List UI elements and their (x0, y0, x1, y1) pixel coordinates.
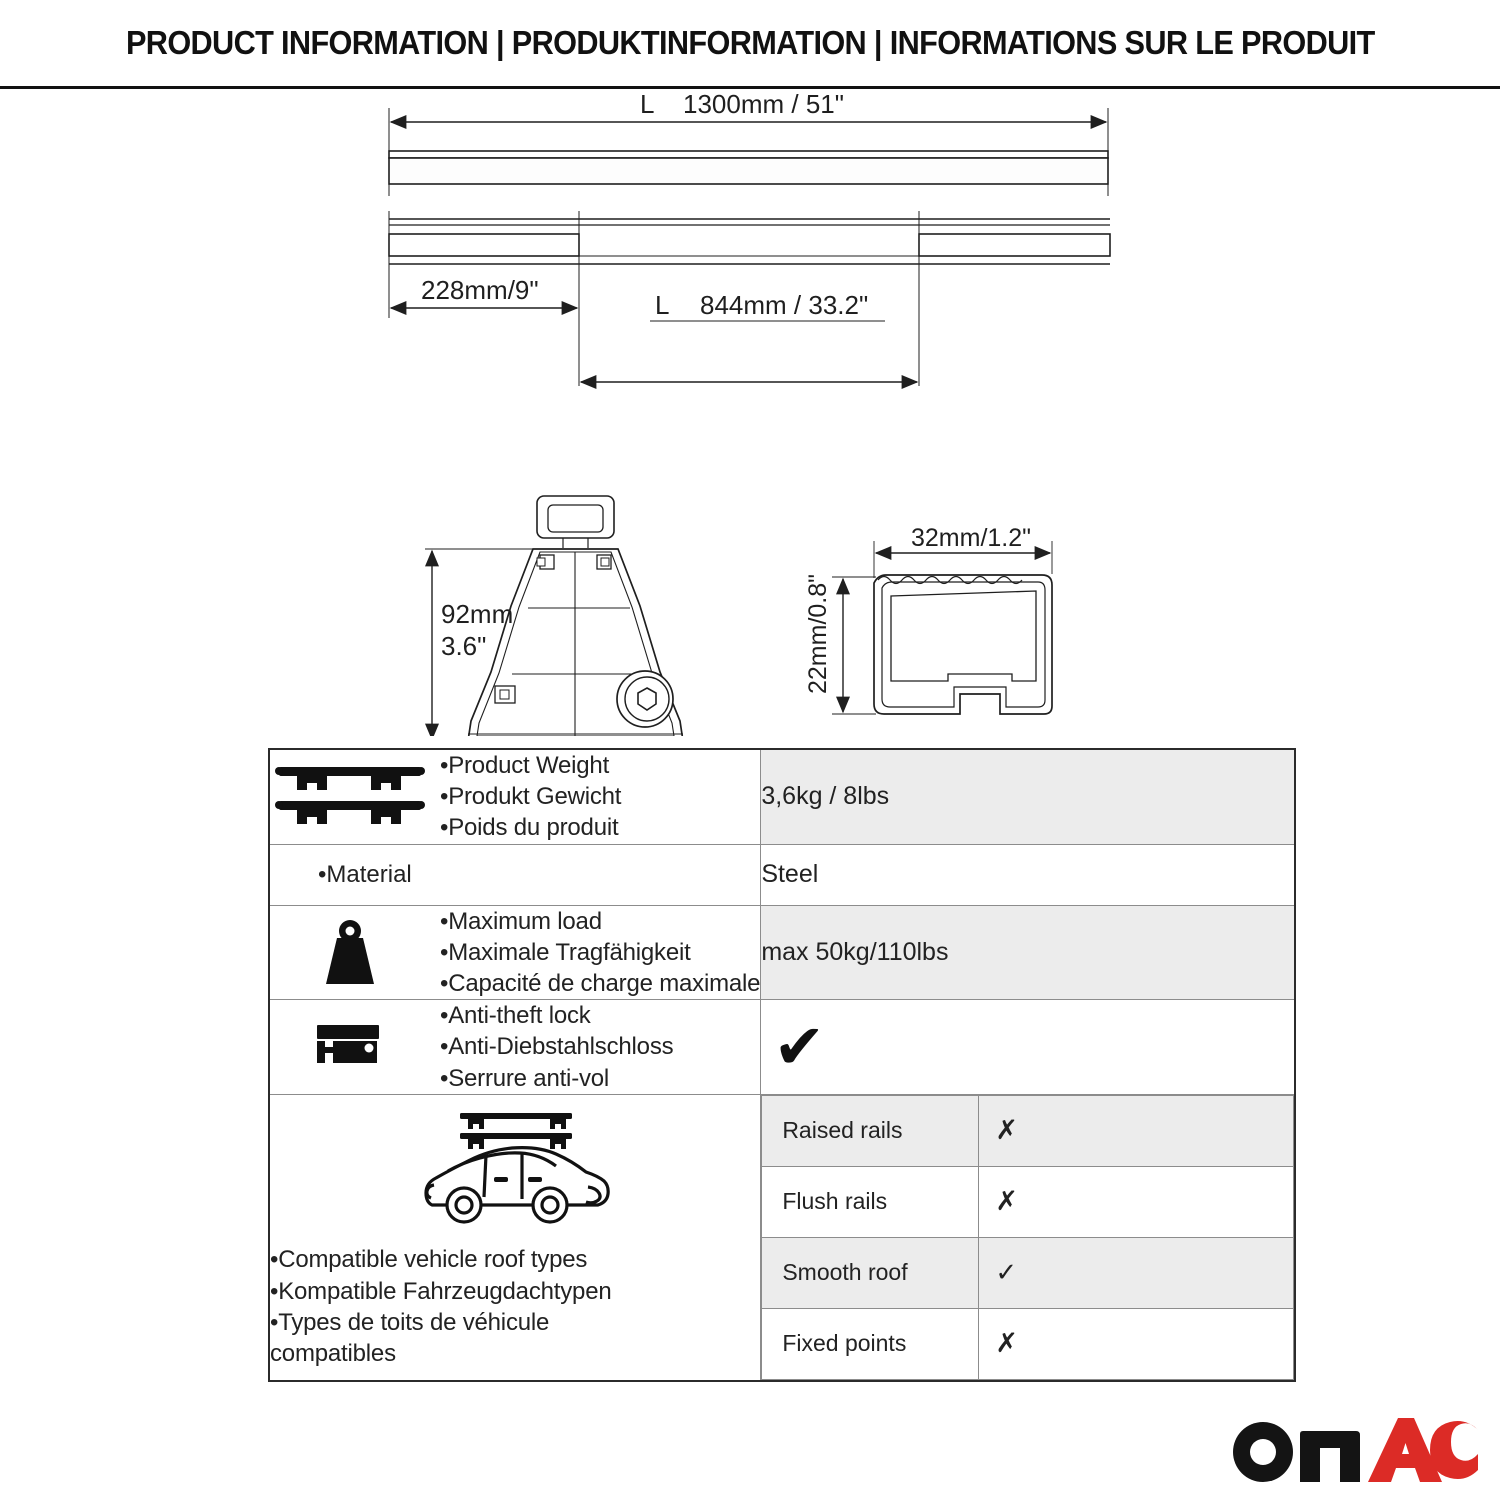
lock-icon (270, 1017, 430, 1077)
label-line-fr: •Poids du produit (440, 812, 621, 843)
roof-type-name: Raised rails (762, 1095, 979, 1166)
roof-type-row: Raised rails ✗ (762, 1095, 1294, 1166)
roof-type-row: Smooth roof ✓ (762, 1237, 1294, 1308)
anti-theft-value: ✔ (761, 1000, 1295, 1095)
table-row: •Anti-theft lock •Anti-Diebstahlschloss … (269, 1000, 1295, 1095)
table-row: •Material Steel (269, 844, 1295, 905)
omac-logo (1228, 1412, 1478, 1484)
label-line-fr-cont: compatibles (270, 1338, 612, 1369)
roof-type-name: Smooth roof (762, 1237, 979, 1308)
product-weight-value: 3,6kg / 8lbs (761, 749, 1295, 844)
logo-mark-dark (1233, 1422, 1360, 1482)
label-line-en: •Compatible vehicle roof types (270, 1244, 612, 1275)
label-line-de: •Kompatible Fahrzeugdachtypen (270, 1276, 612, 1307)
table-row: •Compatible vehicle roof types •Kompatib… (269, 1094, 1295, 1381)
label-line-de: •Anti-Diebstahlschloss (440, 1031, 673, 1062)
roof-type-mark: ✓ (979, 1237, 1294, 1308)
product-weight-labels: •Product Weight •Produkt Gewicht •Poids … (440, 750, 621, 844)
cross-icon: ✗ (995, 1186, 1018, 1217)
foot-height-label-2: 3.6" (441, 631, 486, 661)
specification-table: •Product Weight •Produkt Gewicht •Poids … (268, 748, 1296, 1382)
roof-type-mark: ✗ (979, 1308, 1294, 1379)
span-length-label: 844mm / 33.2" (700, 290, 868, 320)
label-line-fr: •Types de toits de véhicule (270, 1307, 612, 1338)
roof-types-cell: Raised rails ✗ Flush rails ✗ (761, 1094, 1295, 1381)
foot-height-label-1: 92mm (441, 599, 513, 629)
roof-type-name: Flush rails (762, 1166, 979, 1237)
page-title: PRODUCT INFORMATION | PRODUKTINFORMATION… (126, 24, 1375, 62)
product-weight-label-cell: •Product Weight •Produkt Gewicht •Poids … (269, 749, 761, 844)
profile-width-label: 32mm/1.2" (911, 524, 1031, 552)
material-label-cell: •Material (269, 844, 761, 905)
roof-types-table: Raised rails ✗ Flush rails ✗ (761, 1095, 1294, 1380)
compatibility-label-cell: •Compatible vehicle roof types •Kompatib… (269, 1094, 761, 1381)
anti-theft-label-cell: •Anti-theft lock •Anti-Diebstahlschloss … (269, 1000, 761, 1095)
span-prefix: L (655, 290, 669, 320)
roof-type-row: Fixed points ✗ (762, 1308, 1294, 1379)
material-label: •Material (270, 861, 760, 889)
cross-icon: ✗ (995, 1328, 1018, 1359)
table-row: •Product Weight •Produkt Gewicht •Poids … (269, 749, 1295, 844)
max-load-labels: •Maximum load •Maximale Tragfähigkeit •C… (440, 906, 760, 1000)
bar-length-label: 1300mm / 51" (683, 89, 844, 119)
roof-bars-icon (270, 761, 430, 833)
bar-length-prefix: L (640, 89, 654, 119)
roof-type-name: Fixed points (762, 1308, 979, 1379)
foot-offset-label: 228mm/9" (421, 275, 539, 305)
check-icon: ✓ (995, 1258, 1017, 1288)
table-row: •Maximum load •Maximale Tragfähigkeit •C… (269, 905, 1295, 1000)
material-value: Steel (761, 844, 1295, 905)
anti-theft-labels: •Anti-theft lock •Anti-Diebstahlschloss … (440, 1000, 673, 1094)
label-line-fr: •Serrure anti-vol (440, 1063, 673, 1094)
label-line-en: •Anti-theft lock (440, 1000, 673, 1031)
car-with-roof-bars-icon (270, 1105, 760, 1240)
page-header: PRODUCT INFORMATION | PRODUKTINFORMATION… (0, 0, 1500, 86)
roof-type-row: Flush rails ✗ (762, 1166, 1294, 1237)
profile-height-label: 22mm/0.8" (804, 574, 832, 694)
compatibility-labels: •Compatible vehicle roof types •Kompatib… (270, 1244, 612, 1369)
roof-type-mark: ✗ (979, 1166, 1294, 1237)
label-line-de: •Maximale Tragfähigkeit (440, 937, 760, 968)
cross-icon: ✗ (995, 1115, 1018, 1146)
weight-icon (270, 912, 430, 992)
logo-mark-accent (1368, 1418, 1478, 1482)
roof-type-mark: ✗ (979, 1095, 1294, 1166)
label-line-fr: •Capacité de charge maximale (440, 968, 760, 999)
label-line-en: •Maximum load (440, 906, 760, 937)
checkmark-icon: ✔ (761, 1016, 1294, 1078)
max-load-label-cell: •Maximum load •Maximale Tragfähigkeit •C… (269, 905, 761, 1000)
label-line-de: •Produkt Gewicht (440, 781, 621, 812)
label-line-en: •Product Weight (440, 750, 621, 781)
technical-drawing: L 1300mm / 51" 228mm/9" L 844mm / 33.2" … (0, 86, 1500, 736)
max-load-value: max 50kg/110lbs (761, 905, 1295, 1000)
